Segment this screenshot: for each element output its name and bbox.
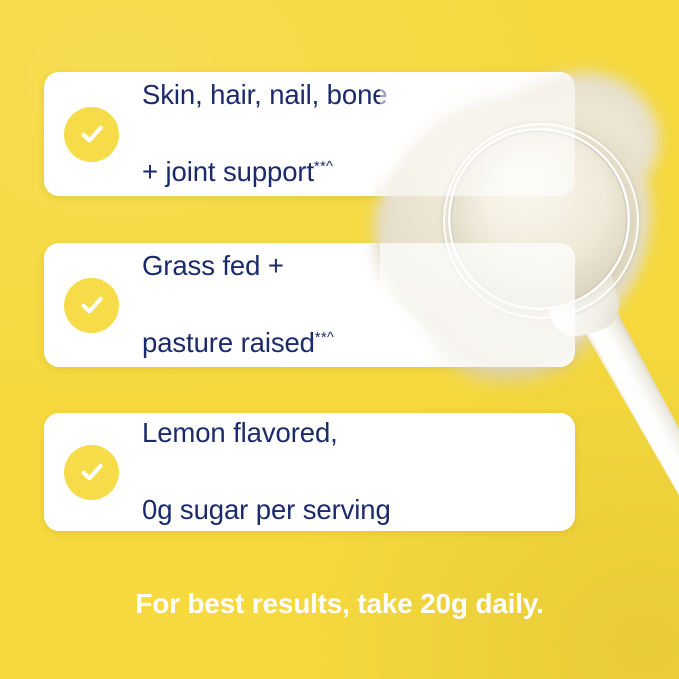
benefit-card-3: Lemon flavored, 0g sugar per serving: [44, 413, 575, 531]
check-icon: [64, 445, 119, 500]
benefit-card-1-superscript: **^: [314, 159, 333, 175]
benefit-card-1: Skin, hair, nail, bone + joint support**…: [44, 72, 575, 196]
check-icon: [64, 107, 119, 162]
benefit-card-list: Skin, hair, nail, bone + joint support**…: [0, 0, 679, 679]
benefit-card-2-line1: Grass fed +: [142, 247, 334, 286]
product-benefits-graphic: Skin, hair, nail, bone + joint support**…: [0, 0, 679, 679]
footer-note: For best results, take 20g daily.: [0, 588, 679, 620]
benefit-card-2-superscript: **^: [315, 330, 334, 346]
benefit-card-2-text: Grass fed + pasture raised**^: [142, 209, 334, 402]
benefit-card-3-line2-wrap: 0g sugar per serving: [142, 491, 391, 530]
benefit-card-1-text: Skin, hair, nail, bone + joint support**…: [142, 38, 387, 231]
benefit-card-2-line2: pasture raised: [142, 327, 315, 358]
check-icon: [64, 278, 119, 333]
benefit-card-3-text: Lemon flavored, 0g sugar per serving: [142, 376, 391, 569]
benefit-card-3-line2: 0g sugar per serving: [142, 494, 391, 525]
benefit-card-2: Grass fed + pasture raised**^: [44, 243, 575, 367]
benefit-card-3-line1: Lemon flavored,: [142, 414, 391, 453]
benefit-card-1-line1: Skin, hair, nail, bone: [142, 76, 387, 115]
benefit-card-1-line2: + joint support: [142, 156, 314, 187]
benefit-card-2-line2-wrap: pasture raised**^: [142, 324, 334, 363]
benefit-card-1-line2-wrap: + joint support**^: [142, 153, 387, 192]
